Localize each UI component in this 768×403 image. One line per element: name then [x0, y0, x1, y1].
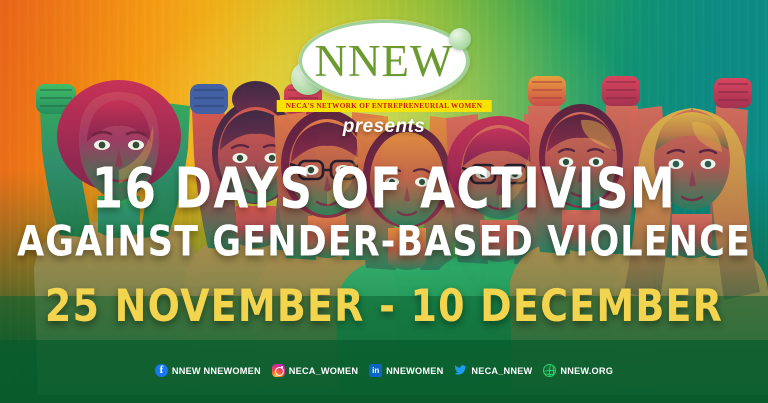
globe-icon — [543, 364, 556, 377]
headline-line-1: 16 DAYS OF ACTIVISM — [8, 160, 761, 216]
linkedin-handle: NNEWOMEN — [386, 366, 443, 376]
facebook-handle: NNEW NNEWOMEN — [172, 366, 261, 376]
social-item-linkedin[interactable]: NNEWOMEN — [369, 364, 443, 377]
social-item-twitter[interactable]: NECA_NNEW — [454, 364, 532, 377]
social-item-website[interactable]: NNEW.ORG — [543, 364, 613, 377]
facebook-icon — [155, 364, 168, 377]
linkedin-icon — [369, 364, 382, 377]
instagram-handle: NECA_WOMEN — [289, 366, 358, 376]
twitter-icon — [454, 364, 467, 377]
logo-tagline: NECA'S NETWORK OF ENTREPRENEURIAL WOMEN — [277, 100, 492, 112]
website-handle: NNEW.ORG — [560, 366, 613, 376]
nnew-logo[interactable]: NNEW — [291, 16, 477, 108]
presents-label: presents — [343, 116, 425, 138]
twitter-handle: NECA_NNEW — [471, 366, 532, 376]
social-item-instagram[interactable]: NECA_WOMEN — [272, 364, 358, 377]
campaign-poster: NNEW NECA'S NETWORK OF ENTREPRENEURIAL W… — [0, 0, 768, 403]
headline-block: 16 DAYS OF ACTIVISM AGAINST GENDER-BASED… — [0, 160, 768, 321]
logo-wordmark: NNEW — [299, 20, 469, 102]
date-range-label: 25 NOVEMBER - 10 DECEMBER — [0, 283, 768, 328]
instagram-icon — [272, 364, 285, 377]
headline-line-2: AGAINST GENDER-BASED VIOLENCE — [0, 222, 768, 264]
social-media-bar: NNEW NNEWOMEN NECA_WOMEN NNEWOMEN NECA_N… — [0, 364, 768, 377]
social-item-facebook[interactable]: NNEW NNEWOMEN — [155, 364, 261, 377]
